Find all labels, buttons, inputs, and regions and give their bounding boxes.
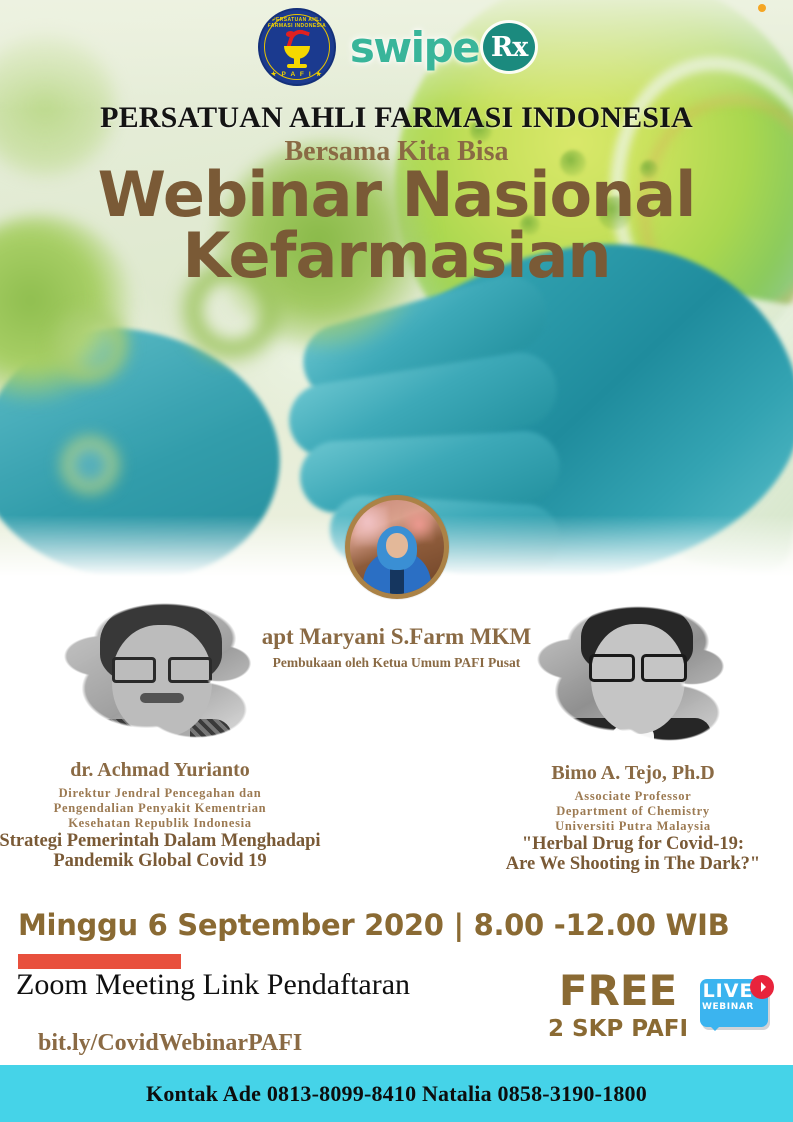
portrait-brush-mask	[48, 585, 273, 763]
live-webinar-badge-icon: LIVE WEBINAR	[694, 975, 774, 1043]
pafi-logo-text-top: PERSATUAN AHLI FARMASI INDONESIA	[260, 17, 334, 29]
portrait-achmad-yurianto-icon	[48, 585, 273, 763]
speaker-right-affiliation-line: Universiti Putra Malaysia	[555, 819, 711, 834]
contact-footer: Kontak Ade 0813-8099-8410 Natalia 0858-3…	[0, 1065, 793, 1122]
speaker-right-affiliation-line: Associate Professor	[555, 789, 711, 804]
portrait-glasses	[589, 654, 687, 676]
speaker-left-topic-line: Strategi Pemerintah Dalam Menghadapi	[0, 832, 321, 852]
avatar-face	[386, 533, 408, 558]
logo-row: PERSATUAN AHLI FARMASI INDONESIA ★ P A F…	[0, 6, 793, 88]
portrait-brush-mask	[521, 588, 746, 766]
portrait-bimo-a-tejo-icon	[521, 588, 746, 766]
speaker-left-topic: Strategi Pemerintah Dalam Menghadapi Pan…	[0, 832, 321, 872]
pafi-logo-icon: PERSATUAN AHLI FARMASI INDONESIA ★ P A F…	[258, 8, 336, 86]
poster-title-line2: Kefarmasian	[0, 226, 793, 287]
speaker-right-topic-line: Are We Shooting in The Dark?"	[506, 855, 760, 875]
speaker-left-affiliation-line: Direktur Jendral Pencegahan dan	[54, 786, 267, 801]
swipe-dot-accent	[758, 4, 766, 12]
snake-head-icon	[286, 31, 295, 37]
portrait-mustache	[140, 693, 184, 703]
contact-text: Kontak Ade 0813-8099-8410 Natalia 0858-3…	[146, 1081, 647, 1107]
speaker-right-topic: "Herbal Drug for Covid-19: Are We Shooti…	[506, 835, 760, 875]
bowl-base	[287, 64, 307, 68]
speaker-left-affiliation-line: Pengendalian Penyakit Kementrian	[54, 801, 267, 816]
price-label: FREE	[548, 970, 688, 1012]
avatar-maryani-icon	[345, 495, 449, 599]
avatar	[350, 500, 444, 594]
rx-speech-bubble-icon: Rx	[483, 23, 535, 71]
virus-blob-graphic	[45, 300, 137, 392]
registration-label: Zoom Meeting Link Pendaftaran	[16, 968, 410, 1002]
price-block: FREE 2 SKP PAFI	[548, 970, 688, 1042]
poster-title: Webinar Nasional Kefarmasian	[0, 165, 793, 287]
speaker-left-topic-line: Pandemik Global Covid 19	[0, 852, 321, 872]
credits-label: 2 SKP PAFI	[548, 1016, 688, 1042]
speaker-right: Bimo A. Tejo, Ph.D Associate Professor D…	[468, 588, 793, 875]
portrait-glasses	[112, 657, 212, 677]
speaker-left-affiliation: Direktur Jendral Pencegahan dan Pengenda…	[54, 786, 267, 830]
virus-blob-graphic	[55, 430, 125, 500]
pafi-logo-text-bottom: ★ P A F I ★	[260, 70, 334, 78]
swiperx-logo-icon: swipe Rx	[350, 23, 535, 72]
speaker-left: dr. Achmad Yurianto Direktur Jendral Pen…	[0, 585, 325, 872]
rx-label: Rx	[491, 34, 528, 61]
registration-link[interactable]: bit.ly/CovidWebinarPAFI	[38, 1030, 302, 1057]
webinar-poster: PERSATUAN AHLI FARMASI INDONESIA ★ P A F…	[0, 0, 793, 1122]
red-accent-bar	[18, 954, 181, 969]
speaker-left-affiliation-line: Kesehatan Republik Indonesia	[54, 816, 267, 831]
speaker-right-affiliation: Associate Professor Department of Chemis…	[555, 789, 711, 833]
speaker-right-topic-line: "Herbal Drug for Covid-19:	[506, 835, 760, 855]
event-date-time: Minggu 6 September 2020 | 8.00 -12.00 WI…	[18, 908, 729, 942]
play-icon	[750, 975, 774, 999]
bowl-of-hygieia-icon	[280, 29, 314, 67]
webinar-label: WEBINAR	[694, 1002, 762, 1012]
organization-name: PERSATUAN AHLI FARMASI INDONESIA	[0, 101, 793, 135]
speaker-right-affiliation-line: Department of Chemistry	[555, 804, 711, 819]
swipe-wordmark: swipe	[350, 23, 479, 72]
